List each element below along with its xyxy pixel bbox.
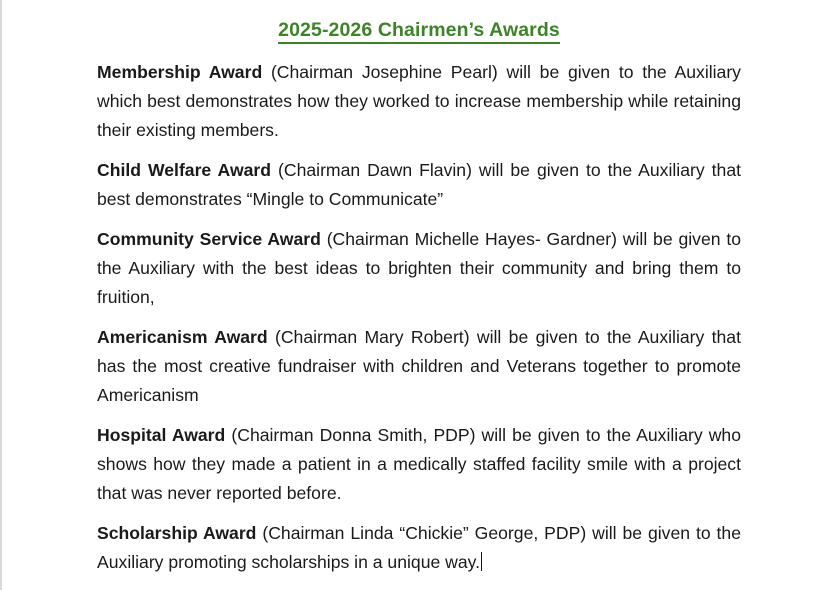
award-separator (262, 62, 271, 82)
page-title: 2025-2026 Chairmen’s Awards (97, 0, 741, 45)
award-paragraph-hospital: Hospital Award (Chairman Donna Smith, PD… (97, 421, 741, 508)
document-text-column: 2025-2026 Chairmen’s Awards Membership A… (97, 0, 741, 577)
page-title-text: 2025-2026 Chairmen’s Awards (278, 19, 560, 44)
award-name-membership: Membership Award (97, 62, 262, 82)
award-name-community-service: Community Service Award (97, 229, 321, 249)
award-name-scholarship: Scholarship Award (97, 523, 256, 543)
award-name-child-welfare: Child Welfare Award (97, 160, 271, 180)
award-paragraph-americanism: Americanism Award (Chairman Mary Robert)… (97, 323, 741, 410)
award-paragraph-child-welfare: Child Welfare Award (Chairman Dawn Flavi… (97, 156, 741, 214)
award-name-hospital: Hospital Award (97, 425, 225, 445)
award-paragraph-scholarship: Scholarship Award (Chairman Linda “Chick… (97, 519, 741, 577)
text-cursor-caret[interactable] (481, 552, 483, 571)
document-page: 2025-2026 Chairmen’s Awards Membership A… (0, 0, 832, 590)
award-paragraph-community-service: Community Service Award (Chairman Michel… (97, 225, 741, 312)
page-left-edge-rule (0, 0, 2, 590)
award-paragraph-membership: Membership Award (Chairman Josephine Pea… (97, 58, 741, 145)
award-separator (271, 160, 278, 180)
award-name-americanism: Americanism Award (97, 327, 268, 347)
award-separator (268, 327, 275, 347)
